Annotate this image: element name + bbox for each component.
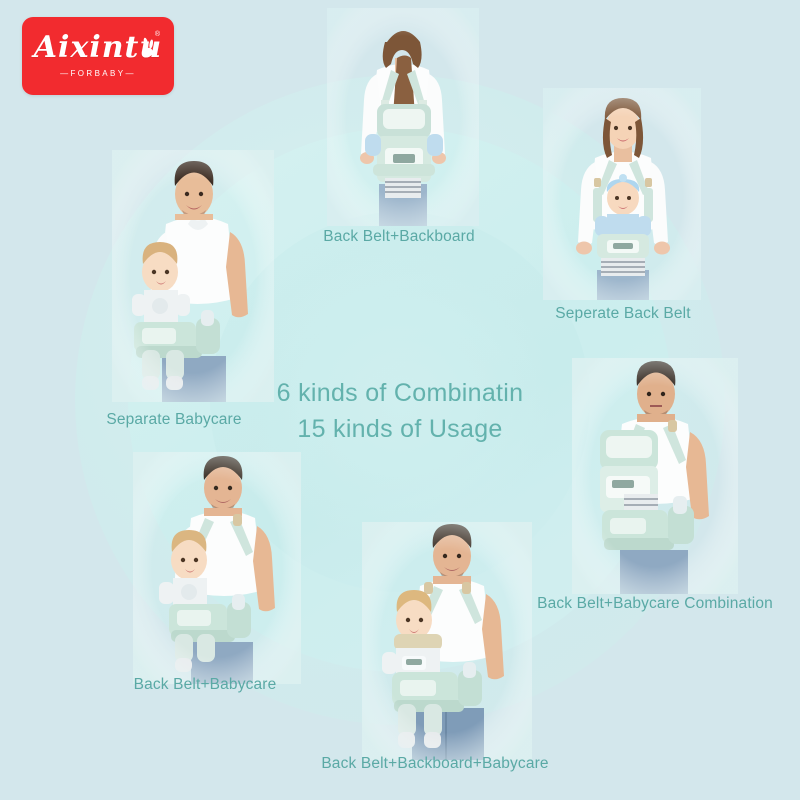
woman-front-carry-illustration — [543, 88, 701, 300]
caption-back-belt-babycare: Back Belt+Babycare — [45, 676, 365, 694]
brand-tagline: —FORBABY— — [22, 69, 174, 78]
photo-back-belt-babycare-combination — [572, 358, 738, 594]
caption-back-belt-babycare-combination: Back Belt+Babycare Combination — [495, 595, 800, 613]
bunny-icon — [141, 37, 157, 59]
man-holding-toddler-illustration — [112, 150, 274, 402]
photo-separate-babycare — [112, 150, 274, 402]
woman-back-view-illustration — [327, 8, 479, 226]
man-carrying-toddler-front-illustration — [133, 452, 301, 684]
caption-seperate-back-belt: Seperate Back Belt — [463, 305, 783, 323]
man-carrying-toddler-full-setup-illustration — [362, 522, 532, 760]
photo-seperate-back-belt — [543, 88, 701, 300]
photo-back-belt-backboard — [327, 8, 479, 226]
caption-back-belt-backboard-babycare: Back Belt+Backboard+Babycare — [275, 755, 595, 773]
caption-back-belt-backboard: Back Belt+Backboard — [239, 228, 559, 246]
man-wearing-full-carrier-illustration — [572, 358, 738, 594]
caption-separate-babycare: Separate Babycare — [14, 411, 334, 429]
photo-back-belt-backboard-babycare — [362, 522, 532, 760]
photo-back-belt-babycare — [133, 452, 301, 684]
brand-logo: Aixintu —FORBABY— ® — [22, 17, 174, 95]
product-infographic-poster: Aixintu —FORBABY— ® 6 kinds of Combinati… — [0, 0, 800, 800]
center-headline-line1: 6 kinds of Combinatin — [277, 379, 524, 407]
